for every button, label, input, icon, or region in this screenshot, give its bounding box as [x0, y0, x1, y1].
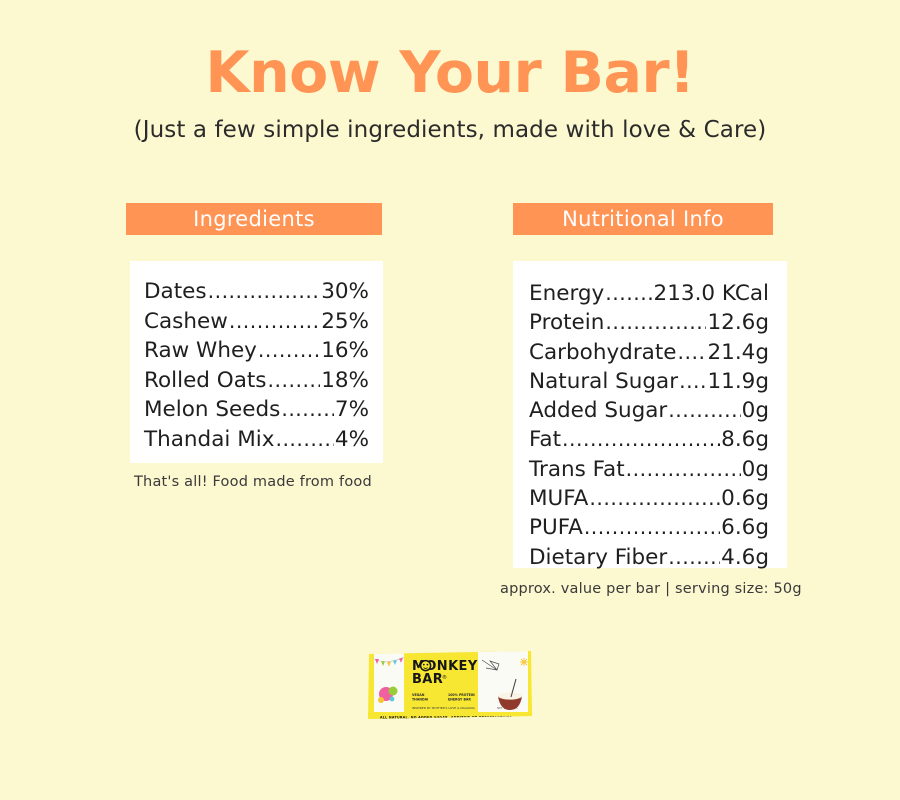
svg-text:100% PROTEIN: 100% PROTEIN — [448, 693, 475, 697]
ingredient-value: 18% — [321, 366, 369, 396]
leader-dots: ........................................… — [626, 455, 741, 484]
leader-dots: ........................................… — [258, 336, 320, 366]
ingredients-card: Dates...................................… — [130, 261, 383, 463]
nutrient-row: Energy..................................… — [529, 279, 769, 308]
svg-text:ENERGY BAR: ENERGY BAR — [448, 698, 471, 702]
ingredient-row: Melon Seeds.............................… — [144, 395, 369, 425]
ingredient-value: 30% — [321, 277, 369, 307]
nutrient-label: Natural Sugar — [529, 367, 678, 396]
monkey-bar-wrapper-illustration: MONKEY BAR ® VEGAN THANDAI 100% PROTEIN … — [366, 648, 534, 722]
nutrient-label: Fat — [529, 425, 561, 454]
nutrient-label: Protein — [529, 308, 604, 337]
leader-dots: ........................................… — [605, 308, 706, 337]
ingredients-list: Dates...................................… — [130, 261, 383, 454]
ingredient-value: 16% — [321, 336, 369, 366]
leader-dots: ........................................… — [605, 279, 652, 308]
leader-dots: ........................................… — [678, 338, 707, 367]
ingredient-label: Rolled Oats — [144, 366, 267, 396]
nutrient-row: Carbohydrate............................… — [529, 338, 769, 367]
nutrient-value: 21.4g — [707, 338, 769, 367]
ingredient-value: 7% — [335, 395, 369, 425]
nutrient-label: Carbohydrate — [529, 338, 677, 367]
leader-dots: ........................................… — [229, 307, 320, 337]
nutrient-value: 11.9g — [707, 367, 769, 396]
nutrient-label: Added Sugar — [529, 396, 667, 425]
ingredient-label: Dates — [144, 277, 207, 307]
nutrient-value: 0g — [742, 396, 769, 425]
nutrient-value: 213.0 KCal — [654, 279, 769, 308]
ingredient-value: 25% — [321, 307, 369, 337]
nutrient-row: Dietary Fiber...........................… — [529, 543, 769, 572]
nutrient-row: Protein.................................… — [529, 308, 769, 337]
nutrient-value: 12.6g — [707, 308, 769, 337]
nutrition-heading-pill: Nutritional Info — [513, 203, 773, 235]
leader-dots: ........................................… — [679, 367, 706, 396]
svg-text:THANDAI: THANDAI — [412, 698, 428, 702]
ingredient-row: Raw Whey................................… — [144, 336, 369, 366]
svg-text:ALL NATURAL, NO ADDED SUGAR, A: ALL NATURAL, NO ADDED SUGAR, ADDITIVE OR… — [380, 715, 512, 719]
ingredient-row: Thandai Mix.............................… — [144, 425, 369, 455]
ingredient-label: Cashew — [144, 307, 228, 337]
ingredients-heading-pill: Ingredients — [126, 203, 382, 235]
ingredient-label: Melon Seeds — [144, 395, 280, 425]
nutrient-row: Trans Fat...............................… — [529, 455, 769, 484]
nutrient-row: MUFA....................................… — [529, 484, 769, 513]
nutrient-value: 8.6g — [721, 425, 769, 454]
svg-text:INSPIRED BY MOTHER'S LOVE & NA: INSPIRED BY MOTHER'S LOVE & NAGGING — [412, 706, 475, 710]
page-subtitle: (Just a few simple ingredients, made wit… — [0, 117, 900, 143]
nutrition-card: Energy..................................… — [513, 261, 787, 568]
svg-text:BAR: BAR — [412, 672, 443, 687]
nutrition-note: approx. value per bar | serving size: 50… — [500, 581, 802, 597]
nutrient-value: 0.6g — [721, 484, 769, 513]
nutrient-label: Energy — [529, 279, 604, 308]
leader-dots: ........................................… — [584, 513, 720, 542]
leader-dots: ........................................… — [668, 543, 720, 572]
page-title: Know Your Bar! — [0, 44, 900, 104]
nutrient-row: Added Sugar.............................… — [529, 396, 769, 425]
leader-dots: ........................................… — [562, 425, 720, 454]
infographic-page: Know Your Bar! (Just a few simple ingred… — [0, 0, 900, 800]
nutrient-value: 4.6g — [721, 543, 769, 572]
nutrient-label: Dietary Fiber — [529, 543, 667, 572]
leader-dots: ........................................… — [281, 395, 334, 425]
ingredient-label: Raw Whey — [144, 336, 257, 366]
nutrient-label: MUFA — [529, 484, 588, 513]
leader-dots: ........................................… — [268, 366, 321, 396]
nutrient-row: PUFA....................................… — [529, 513, 769, 542]
nutrient-label: Trans Fat — [529, 455, 625, 484]
nutrient-row: Fat.....................................… — [529, 425, 769, 454]
nutrient-label: PUFA — [529, 513, 583, 542]
nutrient-row: Natural Sugar...........................… — [529, 367, 769, 396]
product-package-image: MONKEY BAR ® VEGAN THANDAI 100% PROTEIN … — [366, 648, 534, 722]
svg-text:VEGAN: VEGAN — [412, 693, 425, 697]
ingredients-note: That's all! Food made from food — [134, 474, 372, 490]
ingredient-value: 4% — [335, 425, 369, 455]
nutrition-list: Energy..................................… — [513, 261, 787, 572]
svg-text:®: ® — [442, 674, 447, 681]
nutrient-value: 6.6g — [721, 513, 769, 542]
leader-dots: ........................................… — [275, 425, 333, 455]
ingredient-row: Rolled Oats.............................… — [144, 366, 369, 396]
ingredient-row: Dates...................................… — [144, 277, 369, 307]
leader-dots: ........................................… — [208, 277, 321, 307]
leader-dots: ........................................… — [668, 396, 740, 425]
nutrient-value: 0g — [742, 455, 769, 484]
ingredient-label: Thandai Mix — [144, 425, 274, 455]
ingredient-row: Cashew..................................… — [144, 307, 369, 337]
leader-dots: ........................................… — [589, 484, 720, 513]
